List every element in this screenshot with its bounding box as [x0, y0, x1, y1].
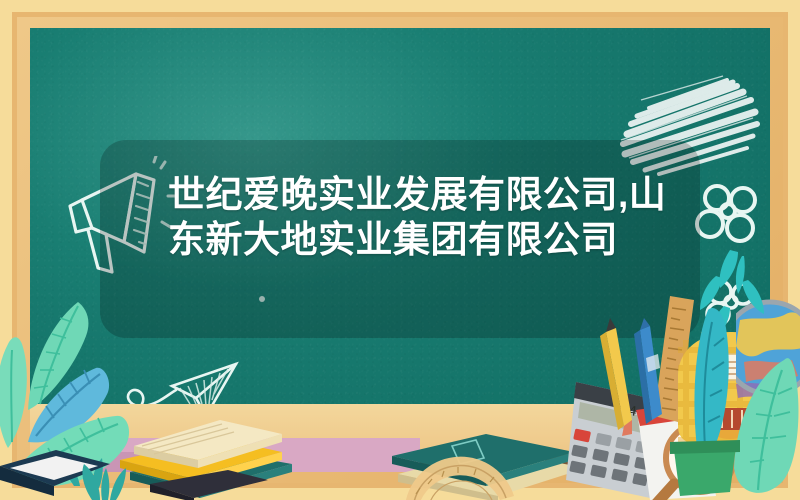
poster-canvas: 世纪爱晚实业发展有限公司,山东新大地实业集团有限公司: [0, 0, 800, 500]
book-dark-left: [150, 468, 270, 500]
pencil-icon: [594, 318, 634, 436]
protractor-icon: [400, 430, 520, 500]
page-title: 世纪爱晚实业发展有限公司,山东新大地实业集团有限公司: [168, 172, 668, 262]
pen-icon: [632, 318, 666, 428]
plant-small-left: [70, 452, 140, 500]
stationery-cup: [660, 440, 750, 500]
